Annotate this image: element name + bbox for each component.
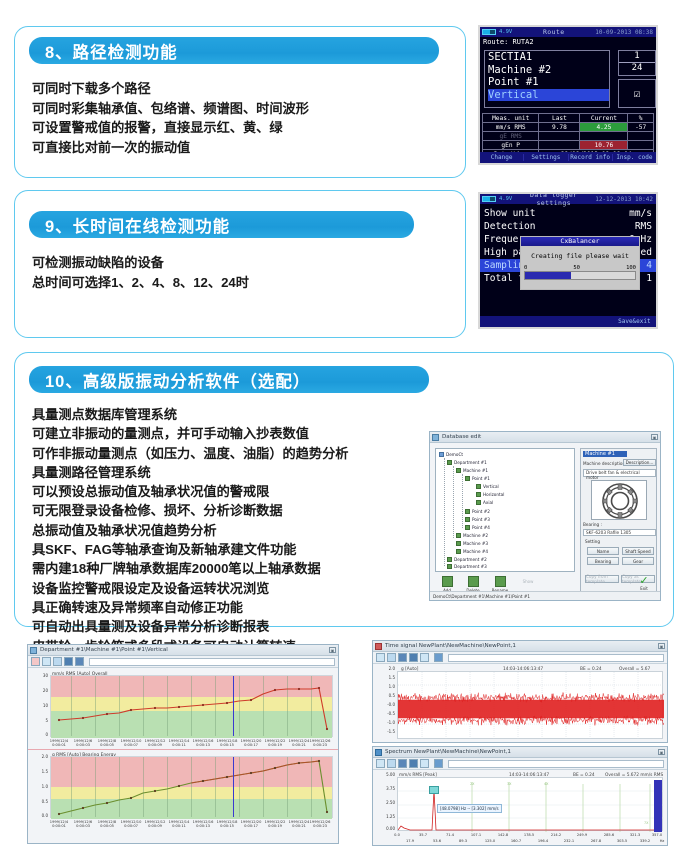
setting-label: Setting: [585, 539, 600, 544]
point-icon: [465, 476, 470, 481]
cell-last: [539, 132, 580, 141]
route-button-bar: Change Settings Record info Insp. code: [480, 152, 656, 163]
section-10-body: 具量测点数据库管理系统 可建立非振动的量测点，并可手动输入抄表数值 可作非振动量…: [32, 405, 452, 656]
tree-node-point-1[interactable]: Point #1: [465, 476, 490, 481]
department-icon: [447, 460, 452, 465]
close-icon[interactable]: ▣: [658, 749, 665, 755]
tree-node-machine-4[interactable]: Machine #4: [456, 549, 488, 554]
table-row: gEn P 10.76: [483, 141, 654, 150]
cell-unit: gE RMS: [483, 132, 539, 141]
row-label: Samplin: [484, 259, 524, 272]
tree-node-label: Machine #3: [463, 541, 488, 546]
machine-icon: [456, 541, 461, 546]
section-8-body: 可同时下载多个路径 可同时彩集轴承值、包络谱、频谱图、时间波形 可设置警戒值的报…: [32, 79, 452, 157]
battery-icon: [482, 29, 496, 35]
section-9-header: 9、长时间在线检测功能: [29, 211, 414, 238]
xtick-top: 214.2: [546, 833, 566, 837]
toolbar-grid-icon[interactable]: [387, 759, 396, 768]
route-list-item-1[interactable]: Machine #2: [488, 64, 609, 77]
cell-pct: -57: [628, 123, 654, 132]
row-value: 4: [646, 259, 652, 272]
toolbar-chart-icon[interactable]: [31, 657, 40, 666]
time-ytick-2: 1.0: [377, 684, 395, 689]
battery-icon: [482, 196, 496, 202]
toolbar-grid-icon[interactable]: [42, 657, 51, 666]
tree-node-label: Horizontal: [483, 492, 504, 497]
route-counter: 1 24: [618, 50, 656, 76]
svg-text:2X: 2X: [470, 782, 475, 786]
tree-node-machine-1[interactable]: Machine #1: [456, 468, 488, 473]
tree-connector: [453, 466, 454, 538]
database-icon: [432, 434, 439, 441]
close-icon[interactable]: ▣: [329, 647, 336, 653]
window-title: Department #1\Machine #1\Point #1\Vertic…: [40, 647, 168, 653]
department-icon: [447, 557, 452, 562]
toolbar-search-icon[interactable]: [434, 653, 443, 662]
spectrum-icon: [375, 749, 382, 756]
scale-min: 0: [524, 265, 527, 271]
tree-connector: [462, 474, 463, 528]
window-title: Database edit: [442, 434, 481, 440]
cell-pct: [628, 132, 654, 141]
xtick-top: 249.9: [572, 833, 592, 837]
close-icon[interactable]: ▣: [651, 434, 658, 440]
scale-mid: 50: [573, 265, 580, 271]
xtick-top: 357.0: [647, 833, 667, 837]
xtick-bottom: 125.0: [480, 839, 500, 843]
toolbar-field[interactable]: [448, 760, 664, 768]
close-icon[interactable]: ▣: [658, 643, 665, 649]
toolbar-zoom-icon[interactable]: [398, 653, 407, 662]
section-10-header: 10、高级版振动分析软件（选配）: [29, 366, 429, 393]
trend-toolbar: [28, 656, 338, 668]
route-listbox[interactable]: SECTIA1 Machine #2 Point #1 Vertical: [484, 50, 610, 108]
chart-divider: [28, 749, 338, 750]
point-icon: [465, 509, 470, 514]
th-pct: %: [628, 114, 654, 123]
tree-node-label: Department #2: [454, 557, 487, 562]
poster-page: 8、路径检测功能 可同时下载多个路径 可同时彩集轴承值、包络谱、频谱图、时间波形…: [0, 0, 688, 860]
route-list-item-0[interactable]: SECTIA1: [488, 51, 609, 64]
delete-icon: [468, 576, 479, 587]
window-titlebar: Spectrum NewPlant\NewMachine\NewPoint,1 …: [373, 747, 667, 758]
window-title: Spectrum NewPlant\NewMachine\NewPoint,1: [385, 749, 511, 755]
trend-2-ytick-4: 0.0: [30, 813, 48, 818]
window-titlebar: Department #1\Machine #1\Point #1\Vertic…: [28, 645, 338, 656]
dialog-message: Creating file please wait: [521, 252, 639, 260]
cell-pct: [628, 141, 654, 150]
tree-node-label: Machine #4: [463, 549, 488, 554]
spectrum-peak-marker[interactable]: [429, 786, 439, 794]
tree-node-dept-1[interactable]: Department #1: [447, 460, 487, 465]
tree-node-horizontal[interactable]: Horizontal: [476, 492, 504, 497]
section-card-9: 9、长时间在线检测功能 可检测振动缺陷的设备 总时间可选择1、2、4、8、12、…: [14, 190, 466, 338]
toolbar-grid-icon[interactable]: [387, 653, 396, 662]
device-datetime: 10-09-2013 08:38: [595, 29, 653, 36]
tree-node-machine-2[interactable]: Machine #2: [456, 533, 488, 538]
trend-cursor-2[interactable]: [233, 757, 234, 817]
route-checkbox[interactable]: ☑: [618, 79, 656, 108]
description-label: Machine description:: [583, 461, 627, 466]
toolbar-trend-icon[interactable]: [53, 657, 62, 666]
row-label: Detection: [484, 220, 535, 233]
device-screen-route: 4.9V Route 10-09-2013 08:38 Route: RUTA2…: [478, 25, 658, 165]
time-signal-plot: [397, 671, 663, 739]
xtick-top: 142.8: [493, 833, 513, 837]
timesignal-icon: [375, 643, 382, 650]
xtick-top: 285.6: [599, 833, 619, 837]
row-label: Freque: [484, 233, 518, 246]
section-9-body: 可检测振动缺陷的设备 总时间可选择1、2、4、8、12、24时: [32, 253, 452, 292]
section-8-header: 8、路径检测功能: [29, 37, 439, 64]
tree-node-point-2[interactable]: Point #2: [465, 509, 490, 514]
tree-node-vertical[interactable]: Vertical: [476, 484, 499, 489]
route-btn-record-info[interactable]: Record info: [569, 154, 613, 161]
row-label: High pa: [484, 246, 524, 259]
xtick-bottom: 339.2: [635, 839, 655, 843]
trend-1-ytick-1: 20: [32, 688, 48, 693]
route-btn-settings[interactable]: Settings: [524, 154, 568, 161]
route-counter-current: 1: [619, 51, 655, 63]
spectrum-ytick-4: 0.00: [375, 826, 395, 831]
cell-last: [539, 141, 580, 150]
trend-2-ytick-3: 0.5: [30, 799, 48, 804]
tree-node-point-3[interactable]: Point #3: [465, 517, 490, 522]
time-ytick-5: -0.5: [377, 711, 395, 716]
window-titlebar: Database edit ▣: [430, 432, 660, 443]
trend-2-ytick-1: 1.5: [30, 769, 48, 774]
route-list-item-selected[interactable]: Vertical: [488, 89, 609, 102]
spectrum-annotation: [48.0798] Hz -- [3.302] mm/s: [437, 804, 502, 813]
xtick-bottom: 232.1: [559, 839, 579, 843]
device-title: Route: [512, 28, 595, 36]
tree-node-label: Point #4: [472, 525, 490, 530]
cell-unit: mm/s RMS: [483, 123, 539, 132]
tree-node-dept-3[interactable]: Department #3: [447, 564, 487, 569]
toolbar-close-icon[interactable]: [409, 653, 418, 662]
tree-node-machine-3[interactable]: Machine #3: [456, 541, 488, 546]
tree-node-root[interactable]: DemoCt: [439, 452, 463, 457]
battery-voltage: 4.9V: [499, 196, 512, 202]
section-card-10: 10、高级版振动分析软件（选配） 具量测点数据库管理系统 可建立非振动的量测点，…: [14, 352, 674, 627]
point-icon: [465, 525, 470, 530]
tree-node-label: Department #1: [454, 460, 487, 465]
window-titlebar: Time signal NewPlant\NewMachine\NewPoint…: [373, 641, 667, 652]
xtick-bottom: 89.3: [453, 839, 473, 843]
cell-current: 4.25: [580, 123, 628, 132]
table-row: mm/s RMS 9.78 4.25 -57: [483, 123, 654, 132]
device-tree[interactable]: DemoCt Department #1 Machine #1 Point #1…: [435, 448, 575, 572]
logger-btn-save-exit[interactable]: Save&exit: [613, 318, 656, 325]
trend-chart-2-plot: [50, 756, 333, 818]
time-signal-trace: [398, 672, 664, 740]
tree-connector: [444, 458, 445, 566]
tree-node-label: Department #3: [454, 564, 487, 569]
trend-icon: [30, 647, 37, 654]
route-btn-change[interactable]: Change: [480, 154, 524, 161]
tree-node-label: Machine #2: [463, 533, 488, 538]
tree-node-label: Vertical: [483, 484, 499, 489]
tree-node-axial[interactable]: Axial: [476, 500, 493, 505]
machine-icon: [456, 533, 461, 538]
toolbar-copy-icon[interactable]: [420, 653, 429, 662]
tree-node-label: DemoCt: [446, 452, 463, 457]
xtick-bottom: 160.7: [506, 839, 526, 843]
toolbar-chart-icon[interactable]: [376, 653, 385, 662]
axis-icon: [476, 500, 481, 505]
xtick-top: 35.7: [413, 833, 433, 837]
tree-node-label: Machine #1: [463, 468, 488, 473]
tree-node-label: Axial: [483, 500, 493, 505]
dialog-title: CxBalancer: [521, 237, 639, 246]
machine-icon: [456, 549, 461, 554]
trend-window: Department #1\Machine #1\Point #1\Vertic…: [27, 644, 339, 844]
show-button[interactable]: Show: [518, 579, 538, 584]
trend-chart-2-series: [51, 757, 334, 819]
device-screen-datalogger: 4.9V Data logger settings 12-12-2013 10:…: [478, 192, 658, 329]
route-list-item-2[interactable]: Point #1: [488, 76, 609, 89]
spectrum-ytick-3: 1.25: [375, 814, 395, 819]
panel-title: Machine #1: [583, 451, 627, 457]
point-icon: [465, 517, 470, 522]
row-label: Show unit: [484, 207, 535, 220]
scale-max: 100: [626, 265, 636, 271]
xtick-bottom: 196.4: [533, 839, 553, 843]
xtick-top: 178.5: [519, 833, 539, 837]
th-unit: Meas. unit: [483, 114, 539, 123]
time-ytick-7: -1.5: [377, 729, 395, 734]
trend-chart-1-series: [51, 676, 334, 738]
show-button-label: Show: [523, 579, 534, 584]
progress-bar: [524, 271, 636, 280]
trend-cursor-1[interactable]: [233, 676, 234, 736]
tree-node-label: Point #1: [472, 476, 490, 481]
copy-from-template-button[interactable]: Copy from template: [585, 575, 619, 583]
cell-unit: gEn P: [483, 141, 539, 150]
svg-text:7X: 7X: [644, 821, 649, 825]
add-icon: [442, 576, 453, 587]
toolbar-chart-icon[interactable]: [376, 759, 385, 768]
exit-button[interactable]: ✓ Exit: [635, 575, 653, 591]
tree-node-label: Point #3: [472, 517, 490, 522]
table-header-row: Meas. unit Last Current %: [483, 114, 654, 123]
time-toolbar: [373, 652, 667, 664]
rename-icon: [495, 576, 506, 587]
window-title: Time signal NewPlant\NewMachine\NewPoint…: [385, 643, 516, 649]
xtick-top: 0.0: [387, 833, 407, 837]
xaxis-unit: Hz: [656, 839, 668, 843]
toolbar-field[interactable]: [89, 658, 335, 666]
bearing-diagram-icon: [592, 481, 648, 521]
progress-dialog: CxBalancer Creating file please wait 0 5…: [520, 236, 640, 290]
bearing-button[interactable]: Bearing: [587, 557, 619, 565]
logger-button-bar: Save&exit: [480, 316, 656, 327]
route-subtitle: Route: RUTA2: [480, 37, 656, 47]
logger-row-detection[interactable]: Detection RMS: [480, 220, 656, 233]
spectrum-window: Spectrum NewPlant\NewMachine\NewPoint,1 …: [372, 746, 668, 846]
trend-chart-1-plot: [50, 675, 333, 737]
battery-voltage: 4.9V: [499, 29, 512, 35]
tree-node-dept-2[interactable]: Department #2: [447, 557, 487, 562]
description-button[interactable]: Description...: [623, 459, 656, 466]
tree-node-point-4[interactable]: Point #4: [465, 525, 490, 530]
svg-text:3X: 3X: [507, 782, 512, 786]
xtick-top: 71.4: [440, 833, 460, 837]
check-icon: ✓: [635, 575, 653, 586]
toolbar-copy-icon[interactable]: [420, 759, 429, 768]
xtick-top: 107.1: [466, 833, 486, 837]
toolbar-field[interactable]: [448, 654, 664, 662]
trend-2-ytick-2: 1.0: [30, 784, 48, 789]
time-ytick-1: 1.5: [377, 675, 395, 680]
trend-2-ytick-0: 2.0: [30, 754, 48, 759]
toolbar-close-icon[interactable]: [409, 759, 418, 768]
logger-row-show-unit[interactable]: Show unit mm/s: [480, 207, 656, 220]
spectrum-toolbar: [373, 758, 667, 770]
toolbar-table-icon[interactable]: [64, 657, 73, 666]
toolbar-zoom-icon[interactable]: [398, 759, 407, 768]
route-btn-insp-code[interactable]: Insp. code: [613, 154, 656, 161]
bearing-field[interactable]: SKF-6203 Rafile 1305: [583, 529, 656, 536]
trend-1-ytick-4: 0: [32, 732, 48, 737]
row-value: 1: [646, 272, 652, 285]
spectrum-ytick-0: 5.00: [375, 772, 395, 777]
shaft-speed-button[interactable]: Shaft Speed: [622, 547, 654, 555]
machine-details-panel: Machine #1 Machine description: Descript…: [580, 448, 657, 593]
name-button[interactable]: Name: [587, 547, 619, 555]
time-ytick-6: -1.0: [377, 720, 395, 725]
time-signal-window: Time signal NewPlant\NewMachine\NewPoint…: [372, 640, 668, 743]
toolbar-close-icon[interactable]: [75, 657, 84, 666]
device-titlebar: 4.9V Data logger settings 12-12-2013 10:…: [480, 194, 656, 204]
xtick: 1999/12/26 0:00:23: [303, 739, 337, 747]
description-field[interactable]: Drive belt fan & electrical motor: [583, 469, 656, 477]
department-icon: [447, 564, 452, 569]
xtick-top: 321.3: [625, 833, 645, 837]
cell-last: 9.78: [539, 123, 580, 132]
spectrum-ytick-1: 3.75: [375, 786, 395, 791]
spectrum-ytick-2: 2.50: [375, 800, 395, 805]
db-statusbar: DemoCt\Department #1\Machine #1\Point #1: [430, 591, 660, 600]
plant-icon: [439, 452, 444, 457]
database-edit-window: Database edit ▣ DemoCt Department #1 Mac…: [429, 431, 661, 601]
cell-current: [580, 132, 628, 141]
row-value: mm/s: [629, 207, 652, 220]
trend-1-ytick-0: 30: [32, 673, 48, 678]
spectrum-plot: 2X3X4X 7X [48.0798] Hz -- [3.302] mm/s: [397, 777, 663, 831]
cell-current: 10.76: [580, 141, 628, 150]
progress-bar-fill: [525, 272, 571, 279]
xtick-bottom: 17.9: [400, 839, 420, 843]
section-card-8: 8、路径检测功能 可同时下载多个路径 可同时彩集轴承值、包络谱、频谱图、时间波形…: [14, 26, 466, 178]
xtick-bottom: 53.6: [427, 839, 447, 843]
th-last: Last: [539, 114, 580, 123]
axis-icon: [476, 484, 481, 489]
checkbox-glyph: ☑: [634, 87, 641, 100]
gear-button[interactable]: Gear: [622, 557, 654, 565]
time-ytick-0: 2.0: [377, 666, 395, 671]
xtick-bottom: 303.5: [612, 839, 632, 843]
device-titlebar: 4.9V Route 10-09-2013 08:38: [480, 27, 656, 37]
machine-icon: [456, 468, 461, 473]
device-title: Data logger settings: [512, 192, 595, 207]
svg-text:4X: 4X: [544, 782, 549, 786]
th-current: Current: [580, 114, 628, 123]
tree-node-label: Point #2: [472, 509, 490, 514]
bearing-label: Bearing :: [583, 522, 602, 527]
toolbar-search-icon[interactable]: [434, 759, 443, 768]
axis-icon: [476, 492, 481, 497]
trend-1-ytick-3: 5: [32, 718, 48, 723]
row-value: RMS: [635, 220, 652, 233]
device-datetime: 12-12-2013 10:42: [595, 196, 653, 203]
trend-1-ytick-2: 10: [32, 703, 48, 708]
time-ytick-3: 0.5: [377, 693, 395, 698]
xtick: 1999/12/26 0:00:23: [303, 820, 337, 828]
xtick-bottom: 267.8: [586, 839, 606, 843]
table-row: gE RMS: [483, 132, 654, 141]
route-counter-total: 24: [619, 63, 655, 74]
bearing-image: [591, 480, 647, 520]
time-ytick-4: -0.0: [377, 702, 395, 707]
